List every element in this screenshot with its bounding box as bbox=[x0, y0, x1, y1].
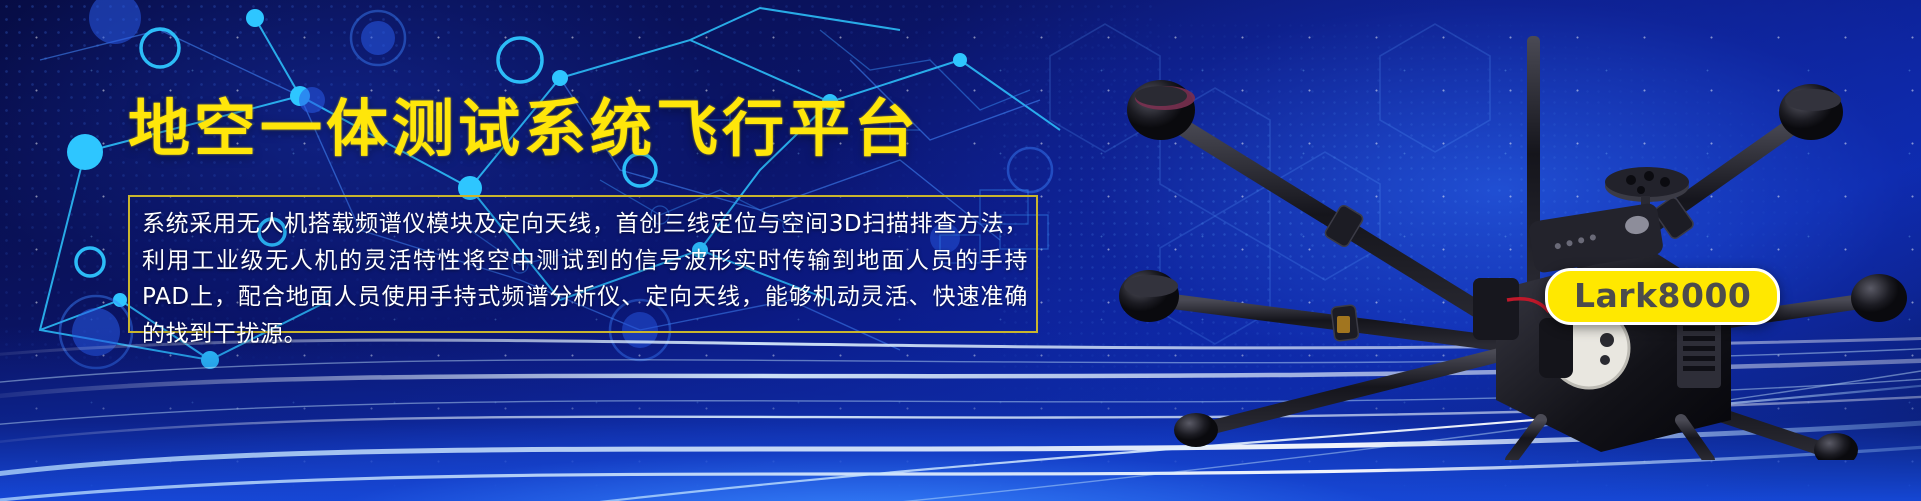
hexacopter-drone-image bbox=[1041, 0, 1921, 460]
product-model-badge: Lark8000 bbox=[1545, 268, 1780, 325]
promo-banner: 地空一体测试系统飞行平台 系统采用无人机搭载频谱仪模块及定向天线，首创三线定位与… bbox=[0, 0, 1921, 501]
description-text: 系统采用无人机搭载频谱仪模块及定向天线，首创三线定位与空间3D扫描排查方法，利用… bbox=[142, 196, 1028, 352]
page-title: 地空一体测试系统飞行平台 bbox=[128, 78, 920, 168]
